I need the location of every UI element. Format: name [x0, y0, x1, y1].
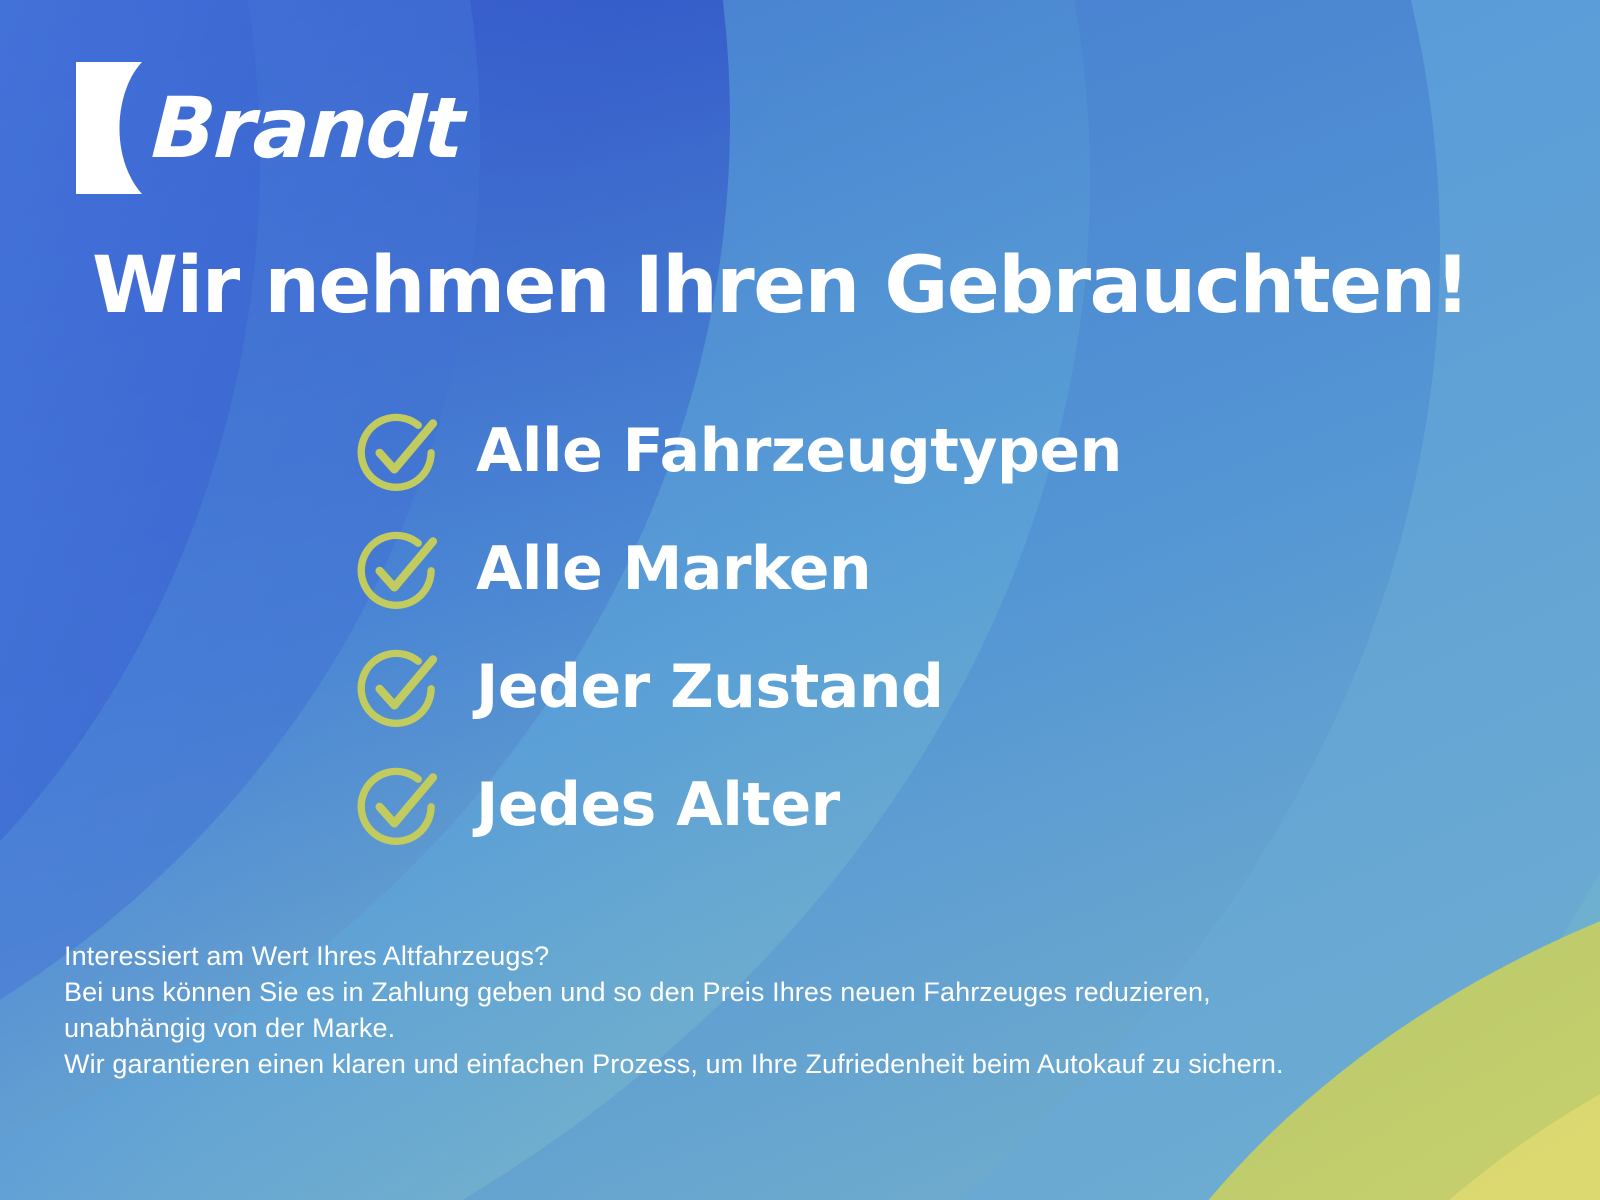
- page-title: Wir nehmen Ihren Gebrauchten!: [92, 246, 1512, 328]
- body-line-2: Bei uns können Sie es in Zahlung geben u…: [64, 974, 1544, 1010]
- benefits-list: Alle Fahrzeugtypen Alle Marken Jeder Zus…: [352, 392, 1452, 864]
- body-copy: Interessiert am Wert Ihres Altfahrzeugs?…: [64, 938, 1544, 1082]
- check-circle-icon: [352, 523, 444, 615]
- list-item-label: Alle Fahrzeugtypen: [476, 421, 1122, 481]
- body-line-4: Wir garantieren einen klaren und einfach…: [64, 1046, 1544, 1082]
- list-item: Jeder Zustand: [352, 628, 1452, 746]
- promo-banner: Brandt Wir nehmen Ihren Gebrauchten! All…: [0, 0, 1600, 1200]
- brand-wordmark: Brandt: [150, 86, 465, 170]
- brand-logo[interactable]: Brandt: [76, 62, 462, 194]
- list-item: Alle Marken: [352, 510, 1452, 628]
- list-item: Jedes Alter: [352, 746, 1452, 864]
- body-line-3: unabhängig von der Marke.: [64, 1010, 1544, 1046]
- check-circle-icon: [352, 641, 444, 733]
- check-circle-icon: [352, 759, 444, 851]
- check-circle-icon: [352, 405, 444, 497]
- list-item-label: Jedes Alter: [476, 775, 840, 835]
- brandt-mark-icon: [76, 62, 148, 194]
- list-item-label: Jeder Zustand: [476, 657, 943, 717]
- body-line-1: Interessiert am Wert Ihres Altfahrzeugs?: [64, 938, 1544, 974]
- list-item: Alle Fahrzeugtypen: [352, 392, 1452, 510]
- list-item-label: Alle Marken: [476, 539, 871, 599]
